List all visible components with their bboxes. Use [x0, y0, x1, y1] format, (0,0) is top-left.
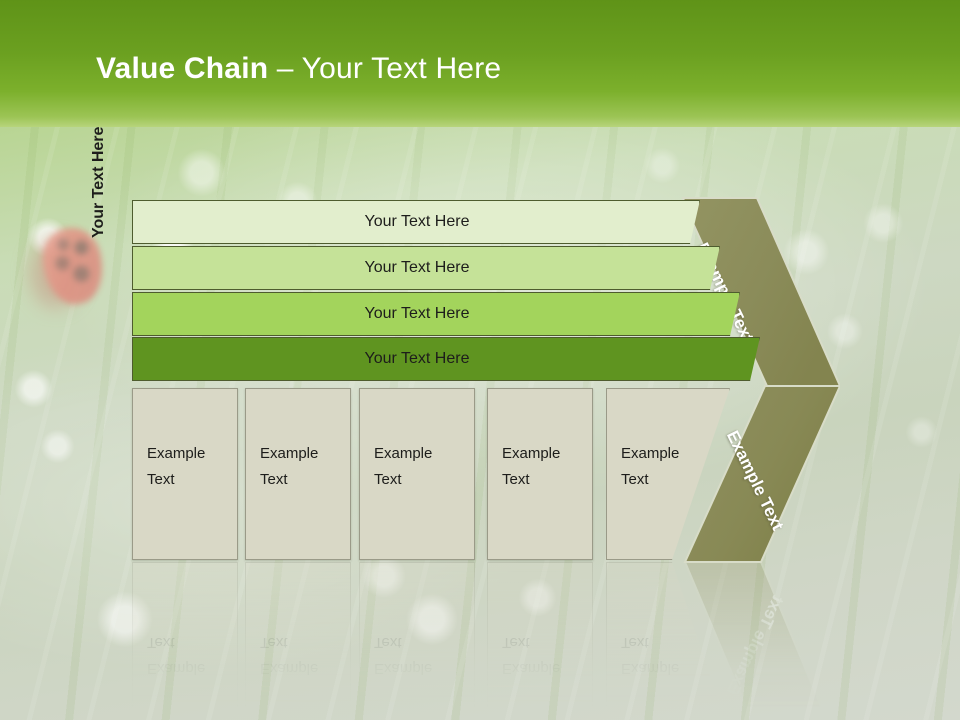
example-box-4-label: Example Text	[502, 441, 584, 493]
example-box-2-line1: Example	[260, 445, 318, 462]
reflection-box-5-line2: Text	[621, 634, 649, 651]
value-bar-1[interactable]	[132, 200, 700, 244]
reflection-box-3-label: Example Text	[374, 629, 456, 681]
example-box-1-line2: Text	[147, 471, 175, 488]
example-box-3[interactable]: Example Text	[359, 388, 475, 560]
reflection-box-4-line2: Text	[502, 634, 530, 651]
example-box-2-line2: Text	[260, 471, 288, 488]
reflection-box-3-line1: Example	[374, 660, 432, 677]
reflection-arrow: Example Text	[665, 562, 840, 712]
reflection-box-4: Example Text	[487, 562, 593, 712]
slide-canvas: Value Chain – Your Text Here Your Text H…	[0, 0, 960, 720]
reflection-box-1: Example Text	[132, 562, 238, 712]
reflection-box-3: Example Text	[359, 562, 475, 712]
example-box-5-label: Example Text	[621, 441, 703, 493]
example-box-2[interactable]: Example Text	[245, 388, 351, 560]
example-box-3-line1: Example	[374, 445, 432, 462]
example-box-5-line1: Example	[621, 445, 679, 462]
example-box-3-label: Example Text	[374, 441, 456, 493]
reflection-box-2-line1: Example	[260, 660, 318, 677]
reflection-box-2: Example Text	[245, 562, 351, 712]
reflection-box-2-line2: Text	[260, 634, 288, 651]
reflection-box-1-line1: Example	[147, 660, 205, 677]
reflection-group: Example Text Example Text Example Text E…	[0, 562, 960, 712]
example-box-4-line2: Text	[502, 471, 530, 488]
example-box-4-line1: Example	[502, 445, 560, 462]
example-box-3-line2: Text	[374, 471, 402, 488]
example-box-1-label: Example Text	[147, 441, 229, 493]
reflection-box-4-label: Example Text	[502, 629, 584, 681]
value-bar-2[interactable]	[132, 246, 720, 290]
reflection-box-3-line2: Text	[374, 634, 402, 651]
example-box-1-line1: Example	[147, 445, 205, 462]
value-bars-group: Your Text Here Your Text Here Your Text …	[0, 0, 960, 400]
example-box-5-line2: Text	[621, 471, 649, 488]
value-bar-3[interactable]	[132, 292, 740, 336]
reflection-box-1-line2: Text	[147, 634, 175, 651]
example-box-1[interactable]: Example Text	[132, 388, 238, 560]
example-box-2-label: Example Text	[260, 441, 342, 493]
reflection-box-1-label: Example Text	[147, 629, 229, 681]
example-box-4[interactable]: Example Text	[487, 388, 593, 560]
reflection-box-4-line1: Example	[502, 660, 560, 677]
reflection-box-2-label: Example Text	[260, 629, 342, 681]
value-bar-4[interactable]	[132, 337, 760, 381]
